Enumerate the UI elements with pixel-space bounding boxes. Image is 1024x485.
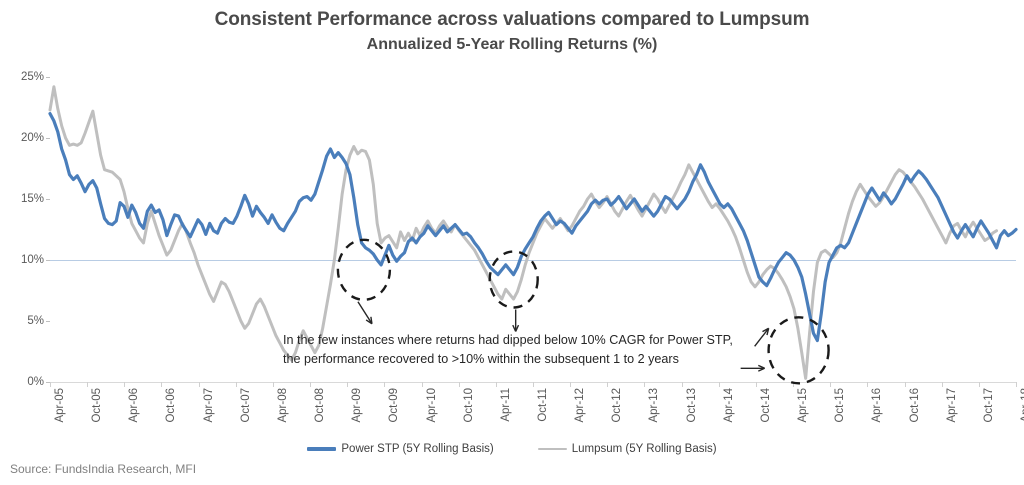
series-line-power-stp bbox=[50, 114, 1016, 341]
series-lines bbox=[0, 0, 1024, 485]
legend-item-lumpsum[interactable]: Lumpsum (5Y Rolling Basis) bbox=[538, 443, 717, 455]
source-note: Source: FundsIndia Research, MFI bbox=[10, 462, 196, 476]
recovery-annotation: In the few instances where returns had d… bbox=[283, 331, 803, 368]
annotation-line-1: In the few instances where returns had d… bbox=[283, 331, 803, 350]
chart-legend: Power STP (5Y Rolling Basis)Lumpsum (5Y … bbox=[0, 443, 1024, 455]
legend-item-power-stp[interactable]: Power STP (5Y Rolling Basis) bbox=[307, 443, 493, 455]
annotation-circle-dip-circle-apr09 bbox=[338, 240, 390, 300]
annotation-arrow-1 bbox=[358, 302, 372, 324]
legend-swatch-icon bbox=[538, 448, 567, 451]
annotation-line-2: the performance recovered to >10% within… bbox=[283, 350, 803, 369]
legend-label: Power STP (5Y Rolling Basis) bbox=[341, 443, 493, 455]
chart-container: Consistent Performance across valuations… bbox=[0, 0, 1024, 485]
legend-swatch-icon bbox=[307, 447, 336, 451]
legend-label: Lumpsum (5Y Rolling Basis) bbox=[572, 443, 717, 455]
annotation-arrow-2 bbox=[513, 310, 519, 332]
